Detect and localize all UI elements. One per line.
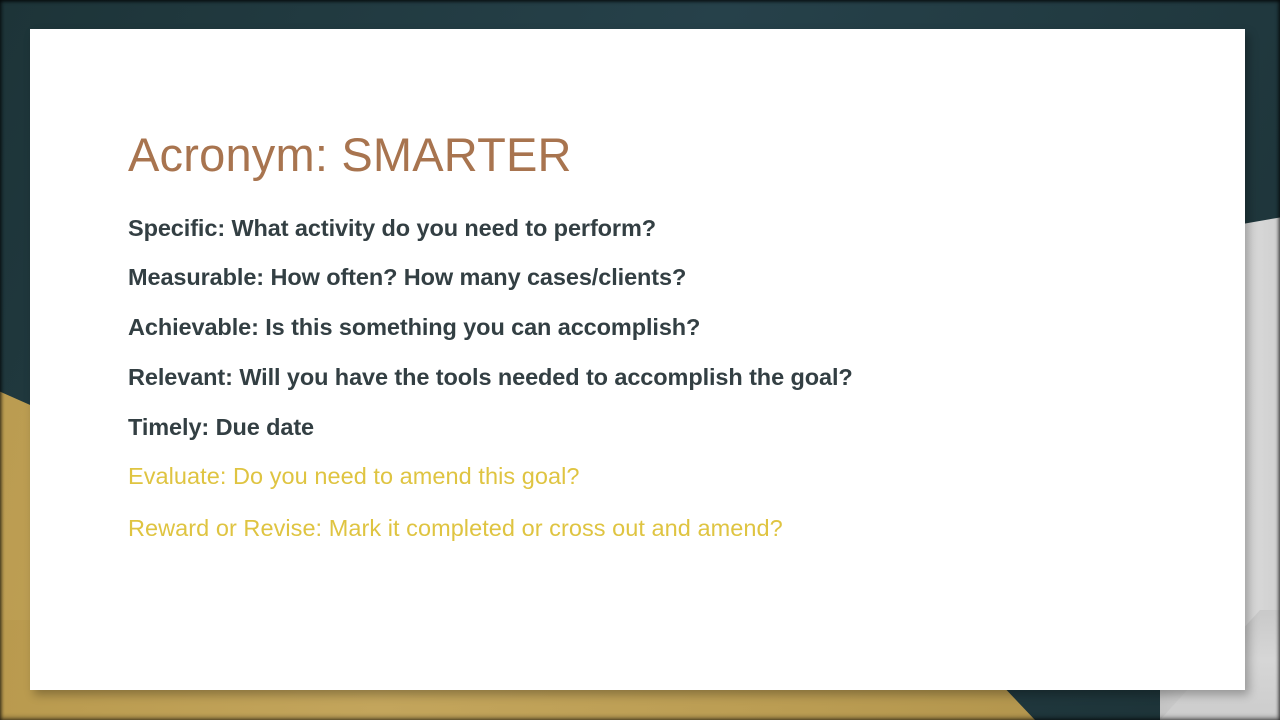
bullet-list: Specific: What activity do you need to p… bbox=[128, 215, 1205, 543]
list-item: Measurable: How often? How many cases/cl… bbox=[128, 264, 1205, 292]
slide-content-card: Acronym: SMARTER Specific: What activity… bbox=[30, 29, 1245, 690]
page-title: Acronym: SMARTER bbox=[128, 129, 1205, 181]
list-item: Timely: Due date bbox=[128, 414, 1205, 442]
slide-body: Acronym: SMARTER Specific: What activity… bbox=[128, 129, 1205, 567]
list-item: Achievable: Is this something you can ac… bbox=[128, 314, 1205, 342]
slide-root: Acronym: SMARTER Specific: What activity… bbox=[0, 0, 1280, 720]
list-item: Reward or Revise: Mark it completed or c… bbox=[128, 515, 1205, 543]
list-item: Specific: What activity do you need to p… bbox=[128, 215, 1205, 243]
list-item: Relevant: Will you have the tools needed… bbox=[128, 364, 1205, 392]
list-item: Evaluate: Do you need to amend this goal… bbox=[128, 463, 1205, 491]
